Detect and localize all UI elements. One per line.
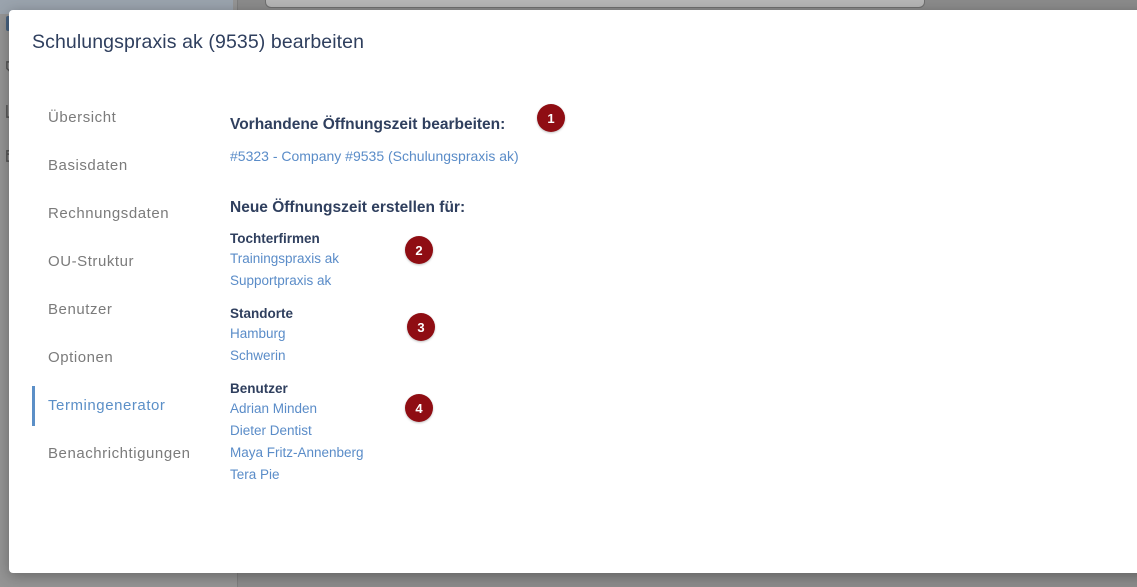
sidebar-item-basisdaten[interactable]: Basisdaten [32,142,217,190]
group-heading: Standorte [230,306,930,321]
sidebar-item-benachrichtigungen[interactable]: Benachrichtigungen [32,430,217,478]
group-tochterfirmen: Tochterfirmen Trainingspraxis ak Support… [230,231,930,292]
group-benutzer: Benutzer Adrian Minden Dieter Dentist Ma… [230,381,930,486]
sidebar-item-optionen[interactable]: Optionen [32,334,217,382]
existing-opening-hours-heading: Vorhandene Öffnungszeit bearbeiten: [230,116,930,134]
list-item[interactable]: Hamburg [230,323,286,345]
list-item[interactable]: Adrian Minden [230,398,317,420]
list-item[interactable]: Maya Fritz-Annenberg [230,442,364,464]
sidebar-item-ou-struktur[interactable]: OU-Struktur [32,238,217,286]
sidebar-item-termingenerator[interactable]: Termingenerator [32,382,217,430]
sidebar-item-label: Optionen [48,349,113,366]
existing-opening-hours-link[interactable]: #5323 - Company #9535 (Schulungspraxis a… [230,148,519,164]
sidebar-item-label: Rechnungsdaten [48,205,169,222]
sidebar-item-label: Termingenerator [48,397,165,414]
sidebar-item-label: Benutzer [48,301,112,318]
group-standorte: Standorte Hamburg Schwerin [230,306,930,367]
list-item[interactable]: Dieter Dentist [230,420,312,442]
new-opening-hours-heading: Neue Öffnungszeit erstellen für: [230,199,930,217]
edit-company-dialog: Schulungspraxis ak (9535) bearbeiten Übe… [9,10,1137,573]
group-heading: Benutzer [230,381,930,396]
group-heading: Tochterfirmen [230,231,930,246]
list-item[interactable]: Tera Pie [230,464,280,486]
dialog-title: Schulungspraxis ak (9535) bearbeiten [32,31,364,54]
dialog-sidebar-nav: Übersicht Basisdaten Rechnungsdaten OU-S… [32,94,217,478]
sidebar-item-benutzer[interactable]: Benutzer [32,286,217,334]
sidebar-item-label: OU-Struktur [48,253,134,270]
sidebar-item-label: Basisdaten [48,157,128,174]
list-item[interactable]: Supportpraxis ak [230,270,331,292]
list-item[interactable]: Trainingspraxis ak [230,248,339,270]
list-item[interactable]: Schwerin [230,345,286,367]
dialog-main-content: Vorhandene Öffnungszeit bearbeiten: #532… [230,94,930,486]
sidebar-item-label: Benachrichtigungen [48,445,191,462]
sidebar-item-uebersicht[interactable]: Übersicht [32,94,217,142]
background-search-panel[interactable] [265,0,925,8]
sidebar-item-label: Übersicht [48,109,116,126]
sidebar-item-rechnungsdaten[interactable]: Rechnungsdaten [32,190,217,238]
existing-opening-hours-row: #5323 - Company #9535 (Schulungspraxis a… [230,148,930,166]
